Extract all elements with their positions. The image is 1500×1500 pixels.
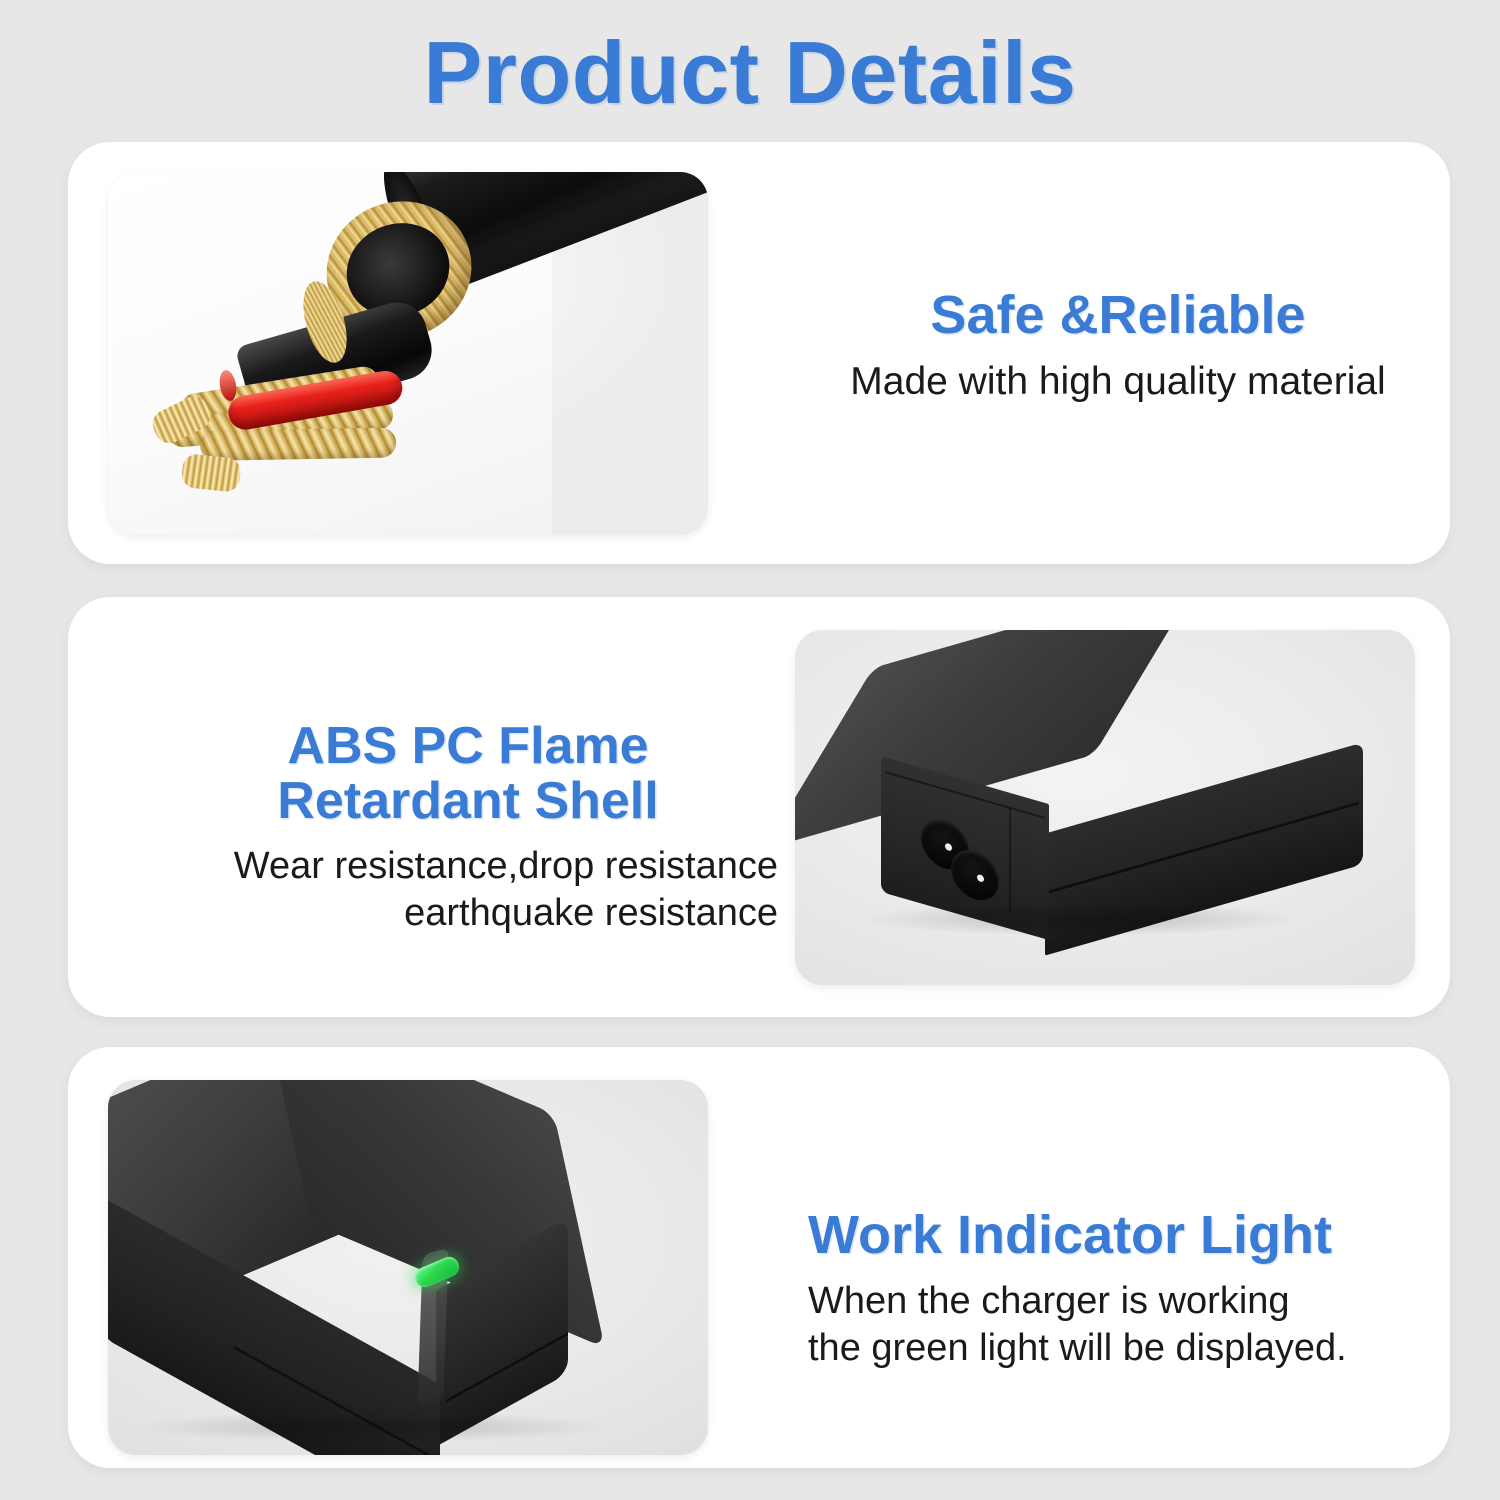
- feature-body-line-2: earthquake resistance: [158, 890, 778, 936]
- feature-body: Made with high quality material: [768, 358, 1468, 406]
- page-title: Product Details: [0, 22, 1500, 124]
- feature-heading: Work Indicator Light: [808, 1207, 1488, 1264]
- adapter-corner-closeup: [108, 1104, 644, 1434]
- feature-heading: ABS PC Flame Retardant Shell: [158, 719, 778, 829]
- feature-heading: Safe &Reliable: [768, 287, 1468, 344]
- cable-cross-section-photo: [108, 172, 708, 535]
- feature-body: Wear resistance,drop resistance earthqua…: [158, 843, 778, 936]
- feature-text-flame-retardant-shell: ABS PC Flame Retardant Shell Wear resist…: [158, 719, 778, 936]
- adapter-corner-seam: [1009, 808, 1011, 912]
- feature-body-line-1: Wear resistance,drop resistance: [158, 843, 778, 889]
- product-details-page: Product Details Safe &Rel: [0, 0, 1500, 1500]
- feature-body-line-2: the green light will be displayed.: [808, 1325, 1488, 1371]
- feature-body-line-1: When the charger is working: [808, 1278, 1488, 1324]
- feature-body: When the charger is working the green li…: [808, 1278, 1488, 1371]
- feature-heading-line-1: ABS PC Flame: [158, 719, 778, 774]
- feature-card-work-indicator-light: Work Indicator Light When the charger is…: [68, 1047, 1450, 1468]
- cable-strand-tip: [181, 453, 242, 493]
- power-adapter-brick-photo: [795, 630, 1415, 985]
- adapter-drop-shadow: [138, 1412, 608, 1442]
- feature-card-flame-retardant-shell: ABS PC Flame Retardant Shell Wear resist…: [68, 597, 1450, 1017]
- adapter-drop-shadow: [865, 902, 1295, 936]
- power-adapter-brick: [873, 668, 1343, 918]
- feature-text-work-indicator-light: Work Indicator Light When the charger is…: [808, 1207, 1488, 1371]
- feature-heading-line-2: Retardant Shell: [158, 774, 778, 829]
- cable-strand: [200, 428, 396, 461]
- adapter-led-closeup-photo: [108, 1080, 708, 1455]
- feature-text-safe-reliable: Safe &Reliable Made with high quality ma…: [768, 287, 1468, 406]
- feature-card-safe-reliable: Safe &Reliable Made with high quality ma…: [68, 142, 1450, 564]
